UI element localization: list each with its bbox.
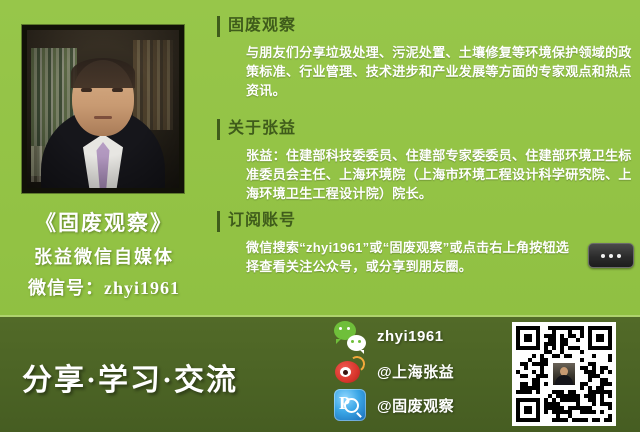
qr-module	[524, 366, 528, 370]
section-header: 订阅账号	[214, 209, 640, 235]
portrait-photo	[27, 30, 179, 188]
section-accent-bar	[217, 211, 220, 232]
section-title: 订阅账号	[228, 212, 296, 229]
qr-module	[544, 362, 548, 366]
qr-module	[592, 402, 596, 406]
photo-vignette	[27, 30, 179, 188]
more-options-button[interactable]	[588, 243, 634, 268]
qr-module	[524, 374, 528, 378]
baidu-icon: P	[334, 389, 366, 421]
qr-module	[584, 418, 588, 422]
section-about-author: 关于张益 张益：住建部科技委委员、住建部专家委委员、住建部环境卫生标准委员会主任…	[214, 117, 640, 203]
qr-module	[592, 354, 596, 358]
section-accent-bar	[217, 16, 220, 37]
qr-module	[608, 406, 612, 410]
qr-module	[568, 354, 572, 358]
qr-module	[608, 370, 612, 374]
qr-finder-bottomleft	[516, 398, 540, 422]
wechat-public-account-poster: 《固废观察》 张益微信自媒体 微信号：zhyi1961 固废观察 与朋友们分享垃…	[0, 0, 640, 432]
qr-module	[592, 410, 596, 414]
qr-center-avatar	[551, 361, 577, 387]
more-dot	[617, 254, 621, 258]
social-row-wechat[interactable]: zhyi1961	[334, 319, 444, 353]
qr-module	[536, 390, 540, 394]
weibo-icon	[334, 355, 366, 387]
profile-column: 《固废观察》 张益微信自媒体 微信号：zhyi1961	[0, 0, 208, 315]
section-title: 关于张益	[228, 120, 296, 137]
social-label-wechat: zhyi1961	[377, 328, 444, 345]
qr-module	[600, 370, 604, 374]
qr-module	[528, 390, 532, 394]
qr-module	[552, 346, 556, 350]
qr-module	[564, 418, 568, 422]
top-section: 《固废观察》 张益微信自媒体 微信号：zhyi1961 固废观察 与朋友们分享垃…	[0, 0, 640, 315]
qr-module	[588, 378, 592, 382]
qr-module	[580, 334, 584, 338]
qr-module	[576, 338, 580, 342]
portrait-frame	[22, 25, 184, 193]
section-accent-bar	[217, 119, 220, 140]
qr-finder-topright	[588, 326, 612, 350]
qr-code-matrix	[516, 326, 612, 422]
qr-module	[608, 394, 612, 398]
wechat-qr-code[interactable]	[512, 322, 616, 426]
qr-finder-topleft	[516, 326, 540, 350]
social-label-baidu: @固废观察	[377, 395, 454, 416]
wechat-id-text: 微信号：zhyi1961	[0, 274, 208, 300]
section-header: 关于张益	[214, 117, 640, 143]
qr-module	[544, 374, 548, 378]
social-accounts-list: zhyi1961 @上海张益 P @固废观察	[334, 316, 504, 432]
more-dot	[609, 254, 613, 258]
qr-module	[608, 358, 612, 362]
qr-module	[596, 418, 600, 422]
section-subscribe: 订阅账号 微信搜索“zhyi1961”或“固废观察”或点击右上角按钮选择查看关注…	[214, 209, 640, 276]
qr-module	[532, 354, 536, 358]
wechat-icon	[334, 320, 366, 352]
qr-module	[600, 410, 604, 414]
info-column: 固废观察 与朋友们分享垃圾处理、污泥处置、土壤修复等环境保护领域的政策标准、行业…	[214, 0, 640, 315]
qr-module	[580, 358, 584, 362]
qr-module	[580, 350, 584, 354]
section-header: 固废观察	[214, 14, 640, 40]
qr-module	[580, 386, 584, 390]
social-row-baidu[interactable]: P @固废观察	[334, 388, 454, 422]
qr-module	[608, 418, 612, 422]
social-label-weibo: @上海张益	[377, 361, 454, 382]
account-subtitle: 张益微信自媒体	[0, 243, 208, 269]
qr-module	[556, 354, 560, 358]
section-title: 固废观察	[228, 17, 296, 34]
section-about-column: 固废观察 与朋友们分享垃圾处理、污泥处置、土壤修复等环境保护领域的政策标准、行业…	[214, 14, 640, 100]
qr-module	[544, 382, 548, 386]
section-body: 微信搜索“zhyi1961”或“固废观察”或点击右上角按钮选择查看关注公众号，或…	[214, 238, 640, 276]
section-body: 张益：住建部科技委委员、住建部专家委委员、住建部环境卫生标准委员会主任、上海环境…	[214, 146, 640, 203]
account-title: 《固废观察》	[0, 207, 208, 237]
section-body: 与朋友们分享垃圾处理、污泥处置、土壤修复等环境保护领域的政策标准、行业管理、技术…	[214, 43, 640, 100]
qr-module	[608, 382, 612, 386]
more-dot	[601, 254, 605, 258]
social-row-weibo[interactable]: @上海张益	[334, 354, 454, 388]
qr-module	[544, 410, 548, 414]
footer-slogan: 分享·学习·交流	[22, 355, 322, 399]
